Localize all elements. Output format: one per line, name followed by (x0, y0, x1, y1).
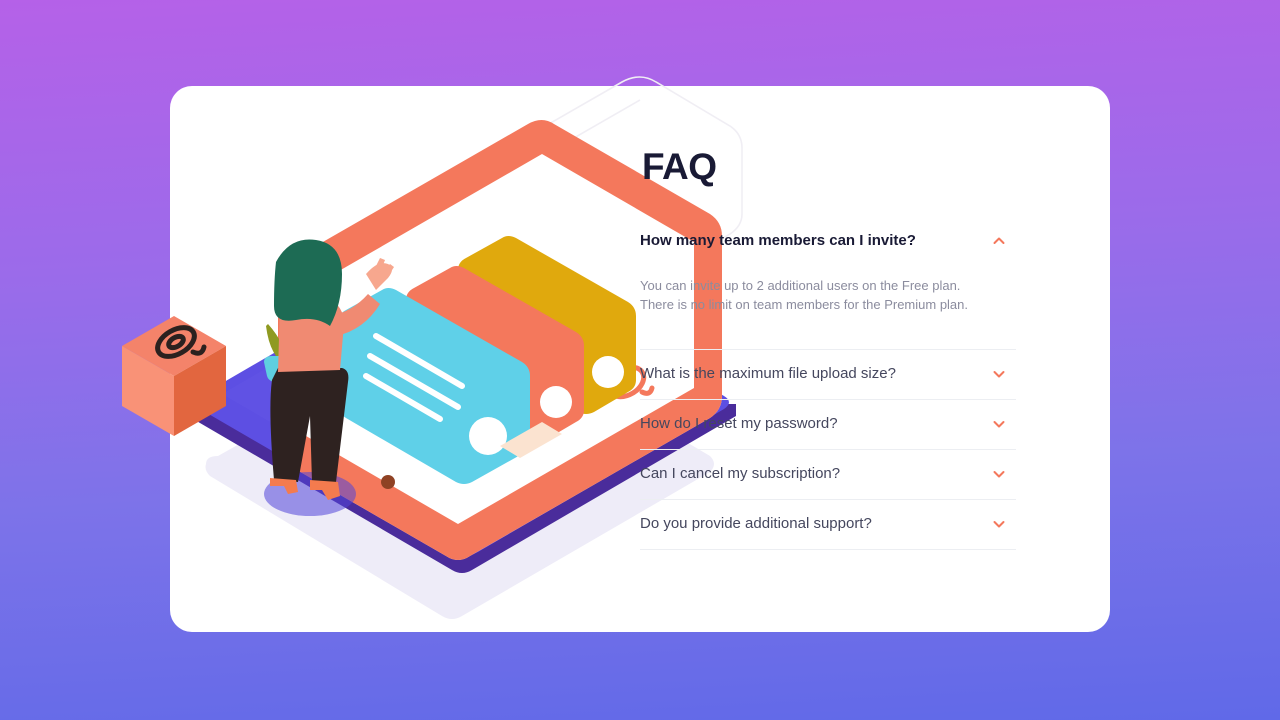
message-card-cyan (338, 288, 530, 484)
faq-item-3-header[interactable]: Can I cancel my subscription? (640, 450, 1016, 499)
at-symbol-cube (122, 316, 226, 436)
faq-item-2: How do I reset my password? (640, 399, 1016, 449)
chevron-down-icon[interactable] (992, 517, 1006, 531)
page-root: FAQ How many team members can I invite? … (0, 0, 1280, 720)
faq-card: FAQ How many team members can I invite? … (170, 86, 1110, 632)
faq-item-0-answer-line-1: There is no limit on team members for th… (640, 296, 1016, 315)
chevron-down-icon[interactable] (992, 417, 1006, 431)
faq-item-4-header[interactable]: Do you provide additional support? (640, 500, 1016, 549)
chevron-down-icon[interactable] (992, 467, 1006, 481)
faq-accordion: How many team members can I invite? You … (640, 223, 1016, 550)
faq-item-0: How many team members can I invite? You … (640, 223, 1016, 349)
faq-item-1: What is the maximum file upload size? (640, 349, 1016, 399)
faq-item-3-question: Can I cancel my subscription? (640, 465, 840, 483)
faq-item-1-header[interactable]: What is the maximum file upload size? (640, 350, 1016, 399)
chevron-up-icon[interactable] (992, 234, 1006, 248)
at-symbol-screen-top (327, 315, 376, 357)
faq-item-4-question: Do you provide additional support? (640, 515, 872, 533)
faq-item-0-answer-line-0: You can invite up to 2 additional users … (640, 277, 1016, 296)
plant-leaves (266, 306, 310, 366)
chevron-down-icon[interactable] (992, 367, 1006, 381)
message-card-coral (406, 266, 584, 444)
message-card-gold (458, 236, 636, 414)
hand (366, 258, 394, 290)
illustration-ground-shadow (206, 314, 715, 619)
message-card-lines (366, 336, 462, 419)
faq-item-0-header[interactable]: How many team members can I invite? (640, 223, 1016, 259)
faq-item-4: Do you provide additional support? (640, 499, 1016, 550)
page-title: FAQ (642, 148, 1020, 185)
faq-item-0-answer: You can invite up to 2 additional users … (640, 259, 1016, 349)
faq-section: FAQ How many team members can I invite? … (640, 148, 1020, 550)
faq-item-2-header[interactable]: How do I reset my password? (640, 400, 1016, 449)
faq-item-2-question: How do I reset my password? (640, 415, 838, 433)
faq-item-1-question: What is the maximum file upload size? (640, 365, 896, 383)
potted-plant (264, 306, 312, 384)
faq-item-0-question: How many team members can I invite? (640, 232, 916, 250)
faq-item-3: Can I cancel my subscription? (640, 449, 1016, 499)
person-figure (264, 239, 394, 516)
at-symbol-icon (153, 322, 204, 363)
